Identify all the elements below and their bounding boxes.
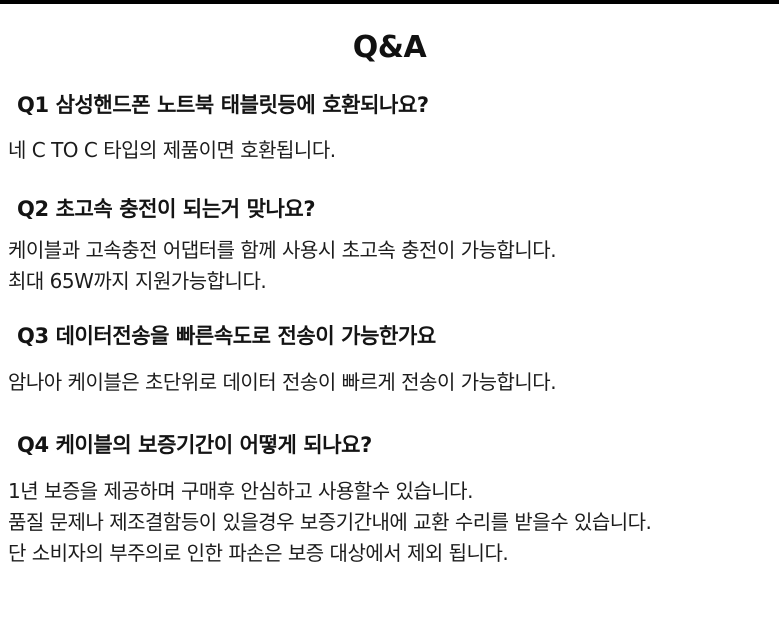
answer-list: 케이블과 고속충전 어댑터를 함께 사용시 초고속 충전이 가능합니다. 최대 … bbox=[0, 235, 779, 297]
question-text: Q4 케이블의 보증기간이 어떻게 되나요? bbox=[0, 428, 779, 462]
answer-line: 암나아 케이블은 초단위로 데이터 전송이 빠르게 전송이 가능합니다. bbox=[0, 367, 779, 398]
answer-list: 암나아 케이블은 초단위로 데이터 전송이 빠르게 전송이 가능합니다. bbox=[0, 367, 779, 398]
answer-list: 1년 보증을 제공하며 구매후 안심하고 사용할수 있습니다. 품질 문제나 제… bbox=[0, 476, 779, 569]
answer-line: 품질 문제나 제조결함등이 있을경우 보증기간내에 교환 수리를 받을수 있습니… bbox=[0, 507, 779, 538]
question-text: Q2 초고속 충전이 되는거 맞나요? bbox=[0, 192, 779, 226]
answer-line: 1년 보증을 제공하며 구매후 안심하고 사용할수 있습니다. bbox=[0, 476, 779, 507]
answer-line: 네 C TO C 타입의 제품이면 호환됩니다. bbox=[0, 135, 779, 166]
qa-page: Q&A Q1 삼성핸드폰 노트북 태블릿등에 호환되나요? 네 C TO C 타… bbox=[0, 0, 779, 624]
top-divider-rule bbox=[0, 0, 779, 4]
answer-line: 케이블과 고속충전 어댑터를 함께 사용시 초고속 충전이 가능합니다. bbox=[0, 235, 779, 266]
qa-block: Q1 삼성핸드폰 노트북 태블릿등에 호환되나요? 네 C TO C 타입의 제… bbox=[0, 88, 779, 166]
qa-block: Q4 케이블의 보증기간이 어떻게 되나요? 1년 보증을 제공하며 구매후 안… bbox=[0, 428, 779, 569]
answer-line: 단 소비자의 부주의로 인한 파손은 보증 대상에서 제외 됩니다. bbox=[0, 538, 779, 569]
qa-block: Q2 초고속 충전이 되는거 맞나요? 케이블과 고속충전 어댑터를 함께 사용… bbox=[0, 192, 779, 297]
answer-line: 최대 65W까지 지원가능합니다. bbox=[0, 266, 779, 297]
question-text: Q3 데이터전송을 빠른속도로 전송이 가능한가요 bbox=[0, 319, 779, 353]
qa-block: Q3 데이터전송을 빠른속도로 전송이 가능한가요 암나아 케이블은 초단위로 … bbox=[0, 319, 779, 398]
qa-section-list: Q1 삼성핸드폰 노트북 태블릿등에 호환되나요? 네 C TO C 타입의 제… bbox=[0, 88, 779, 569]
question-text: Q1 삼성핸드폰 노트북 태블릿등에 호환되나요? bbox=[0, 88, 779, 122]
answer-list: 네 C TO C 타입의 제품이면 호환됩니다. bbox=[0, 135, 779, 166]
page-title: Q&A bbox=[0, 30, 779, 66]
